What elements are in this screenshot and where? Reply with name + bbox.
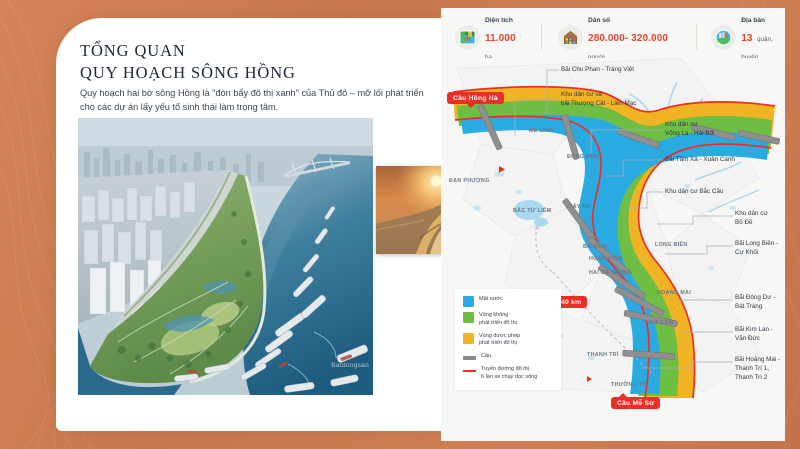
callout-line: Khu dân cư và — [561, 91, 602, 98]
map-legend: Mặt nước Vùng không phát triển đô thị Vù… — [455, 289, 561, 390]
legend-swatch-road — [463, 370, 476, 372]
stats-divider-2 — [696, 24, 697, 50]
callout-bai-dong-du: Bãi Đông Dư - Bát Tràng — [735, 294, 775, 312]
callout-line: Khu dân cư — [735, 210, 768, 217]
place-gia-lam: GIA LÂM — [649, 320, 674, 326]
callout-bai-chu-phan: Bãi Chu Phan - Tráng Việt — [561, 66, 634, 75]
legend-line: Tuyến đường đô thị — [481, 366, 529, 372]
legend-item-vung-khong-phat-trien: Vùng không phát triển đô thị — [463, 312, 554, 328]
stat-card-area: Diện tích 11.000 ha — [455, 9, 521, 66]
place-ba-dinh: BA ĐÌNH — [583, 244, 607, 250]
legend-swatch-green — [463, 312, 474, 323]
callout-khu-bac-cau: Khu dân cư Bắc Cầu — [665, 188, 723, 197]
callout-line: Võng La - Hải Bối — [665, 130, 714, 137]
legend-line: phát triển đô thị — [479, 340, 517, 346]
legend-label: Cầu — [481, 353, 491, 361]
callout-line: Khu dân cư Bắc Cầu — [665, 188, 723, 195]
callout-line: Bãi Kim Lan - — [735, 326, 773, 333]
callout-khu-thuong-cat: Khu dân cư và bãi Thượng Cát - Liên Mạc — [561, 91, 636, 109]
map-area-icon — [455, 25, 480, 50]
callout-line: Thanh Trì 1, — [735, 365, 769, 372]
callout-line: Thanh Trì 2 — [735, 374, 767, 381]
map-panel: Diện tích 11.000 ha — [441, 8, 785, 441]
callout-line: Khu dân cư — [665, 121, 698, 128]
legend-swatch-amber — [463, 333, 474, 344]
place-bac-tu-liem: BẮC TỪ LIÊM — [513, 208, 552, 214]
legend-label: Vùng không phát triển đô thị — [479, 312, 517, 328]
place-thuong-tin: THƯỜNG TÍN — [611, 382, 648, 388]
river-planning-map: Cầu Hồng Hà 40 km Cầu Mễ Sở Bãi Chu Phan… — [441, 58, 785, 398]
title-line-2: QUY HOẠCH SÔNG HỒNG — [80, 62, 410, 84]
subtitle-text: Quy hoạch hai bờ sông Hồng là "đòn bẩy đ… — [80, 86, 425, 115]
legend-item-mat-nuoc: Mặt nước — [463, 296, 554, 307]
legend-label: Tuyến đường đô thị 6 làn xe chạy dọc sôn… — [481, 366, 537, 382]
callout-khu-vong-la: Khu dân cư Võng La - Hải Bối — [665, 121, 714, 139]
callout-line: Bãi Chu Phan - Tráng Việt — [561, 66, 634, 73]
badge-cau-me-so: Cầu Mễ Sở — [611, 397, 660, 409]
stat-value: 280.000- 320.000 — [588, 33, 668, 44]
stat-value: 11.000 — [485, 33, 516, 44]
stat-text-population: Dân số 280.000- 320.000 người — [588, 9, 678, 66]
callout-line: Bãi Long Biên - — [735, 240, 778, 247]
legend-line: Mặt nước — [479, 296, 503, 302]
stat-label: Dân số — [588, 17, 610, 24]
callout-bai-long-bien: Bãi Long Biên - Cự Khối — [735, 240, 778, 258]
place-hoang-mai: HOÀNG MAI — [657, 290, 691, 296]
place-hoan-kiem: HOÀN KIẾM — [589, 256, 622, 262]
inset-sunset-photo — [376, 166, 448, 254]
title-line-1: TỔNG QUAN — [80, 40, 410, 62]
callout-line: Bãi Đông Dư - — [735, 294, 775, 301]
place-hai-ba-trung: HAI BÀ TRƯNG — [589, 270, 632, 276]
legend-item-tuyen-duong: Tuyến đường đô thị 6 làn xe chạy dọc sôn… — [463, 366, 554, 382]
callout-bai-tam-xa: Bãi Tầm Xá - Xuân Canh — [665, 156, 735, 165]
page-title: TỔNG QUAN QUY HOẠCH SÔNG HỒNG — [80, 40, 410, 84]
place-me-linh: MÊ LINH — [529, 128, 553, 134]
place-dong-anh: ĐÔNG ANH — [567, 154, 598, 160]
legend-line: phát triển đô thị — [479, 320, 517, 326]
legend-line: 6 làn xe chạy dọc sông — [481, 374, 537, 380]
stat-card-locality: Địa bàn 13 quận, huyện — [711, 9, 785, 66]
badge-cau-hong-ha: Cầu Hồng Hà — [447, 92, 504, 104]
locality-icon — [711, 25, 736, 50]
stat-value: 13 — [741, 33, 752, 44]
legend-item-cau: Cầu — [463, 353, 554, 361]
aerial-render-photo: Batdongsan — [78, 118, 373, 395]
stat-label: Địa bàn — [741, 17, 765, 24]
population-building-icon — [558, 25, 583, 50]
callout-line: Bồ Đề — [735, 219, 753, 226]
stat-card-population: Dân số 280.000- 320.000 người — [558, 9, 678, 66]
callout-bai-hoang-mai: Bãi Hoàng Mai - Thanh Trì 1, Thanh Trì 2 — [735, 356, 780, 383]
place-thanh-tri: THANH TRÌ — [587, 352, 619, 358]
stats-bar: Diện tích 11.000 ha — [441, 16, 785, 58]
place-dan-phuong: ĐAN PHƯỢNG — [449, 178, 490, 184]
legend-swatch-bridge — [463, 356, 476, 360]
stats-divider-1 — [541, 24, 542, 50]
place-tay-ho: TÂY HỒ — [569, 204, 591, 210]
callout-line: Văn Đức — [735, 335, 760, 342]
callout-line: Bãi Tầm Xá - Xuân Canh — [665, 156, 735, 163]
place-long-bien: LONG BIÊN — [655, 242, 688, 248]
legend-line: Vùng không — [479, 312, 508, 318]
legend-label: Vùng được phép phát triển đô thị — [479, 333, 520, 349]
legend-line: Vùng được phép — [479, 333, 520, 339]
stat-label: Diện tích — [485, 17, 513, 24]
legend-item-vung-duoc-phep-phat-trien: Vùng được phép phát triển đô thị — [463, 333, 554, 349]
infographic-slide: TỔNG QUAN QUY HOẠCH SÔNG HỒNG Quy hoạch … — [0, 0, 800, 449]
legend-swatch-water — [463, 296, 474, 307]
callout-khu-bo-de: Khu dân cư Bồ Đề — [735, 210, 768, 228]
legend-line: Cầu — [481, 353, 491, 359]
stat-text-locality: Địa bàn 13 quận, huyện — [741, 9, 785, 66]
callout-line: Cự Khối — [735, 249, 758, 256]
callout-line: Bãi Hoàng Mai - — [735, 356, 780, 363]
callout-bai-kim-lan: Bãi Kim Lan - Văn Đức — [735, 326, 773, 344]
stat-text-area: Diện tích 11.000 ha — [485, 9, 521, 66]
callout-line: bãi Thượng Cát - Liên Mạc — [561, 100, 636, 107]
callout-line: Bát Tràng — [735, 303, 762, 310]
legend-label: Mặt nước — [479, 296, 503, 304]
left-content-card: TỔNG QUAN QUY HOẠCH SÔNG HỒNG Quy hoạch … — [56, 18, 448, 431]
